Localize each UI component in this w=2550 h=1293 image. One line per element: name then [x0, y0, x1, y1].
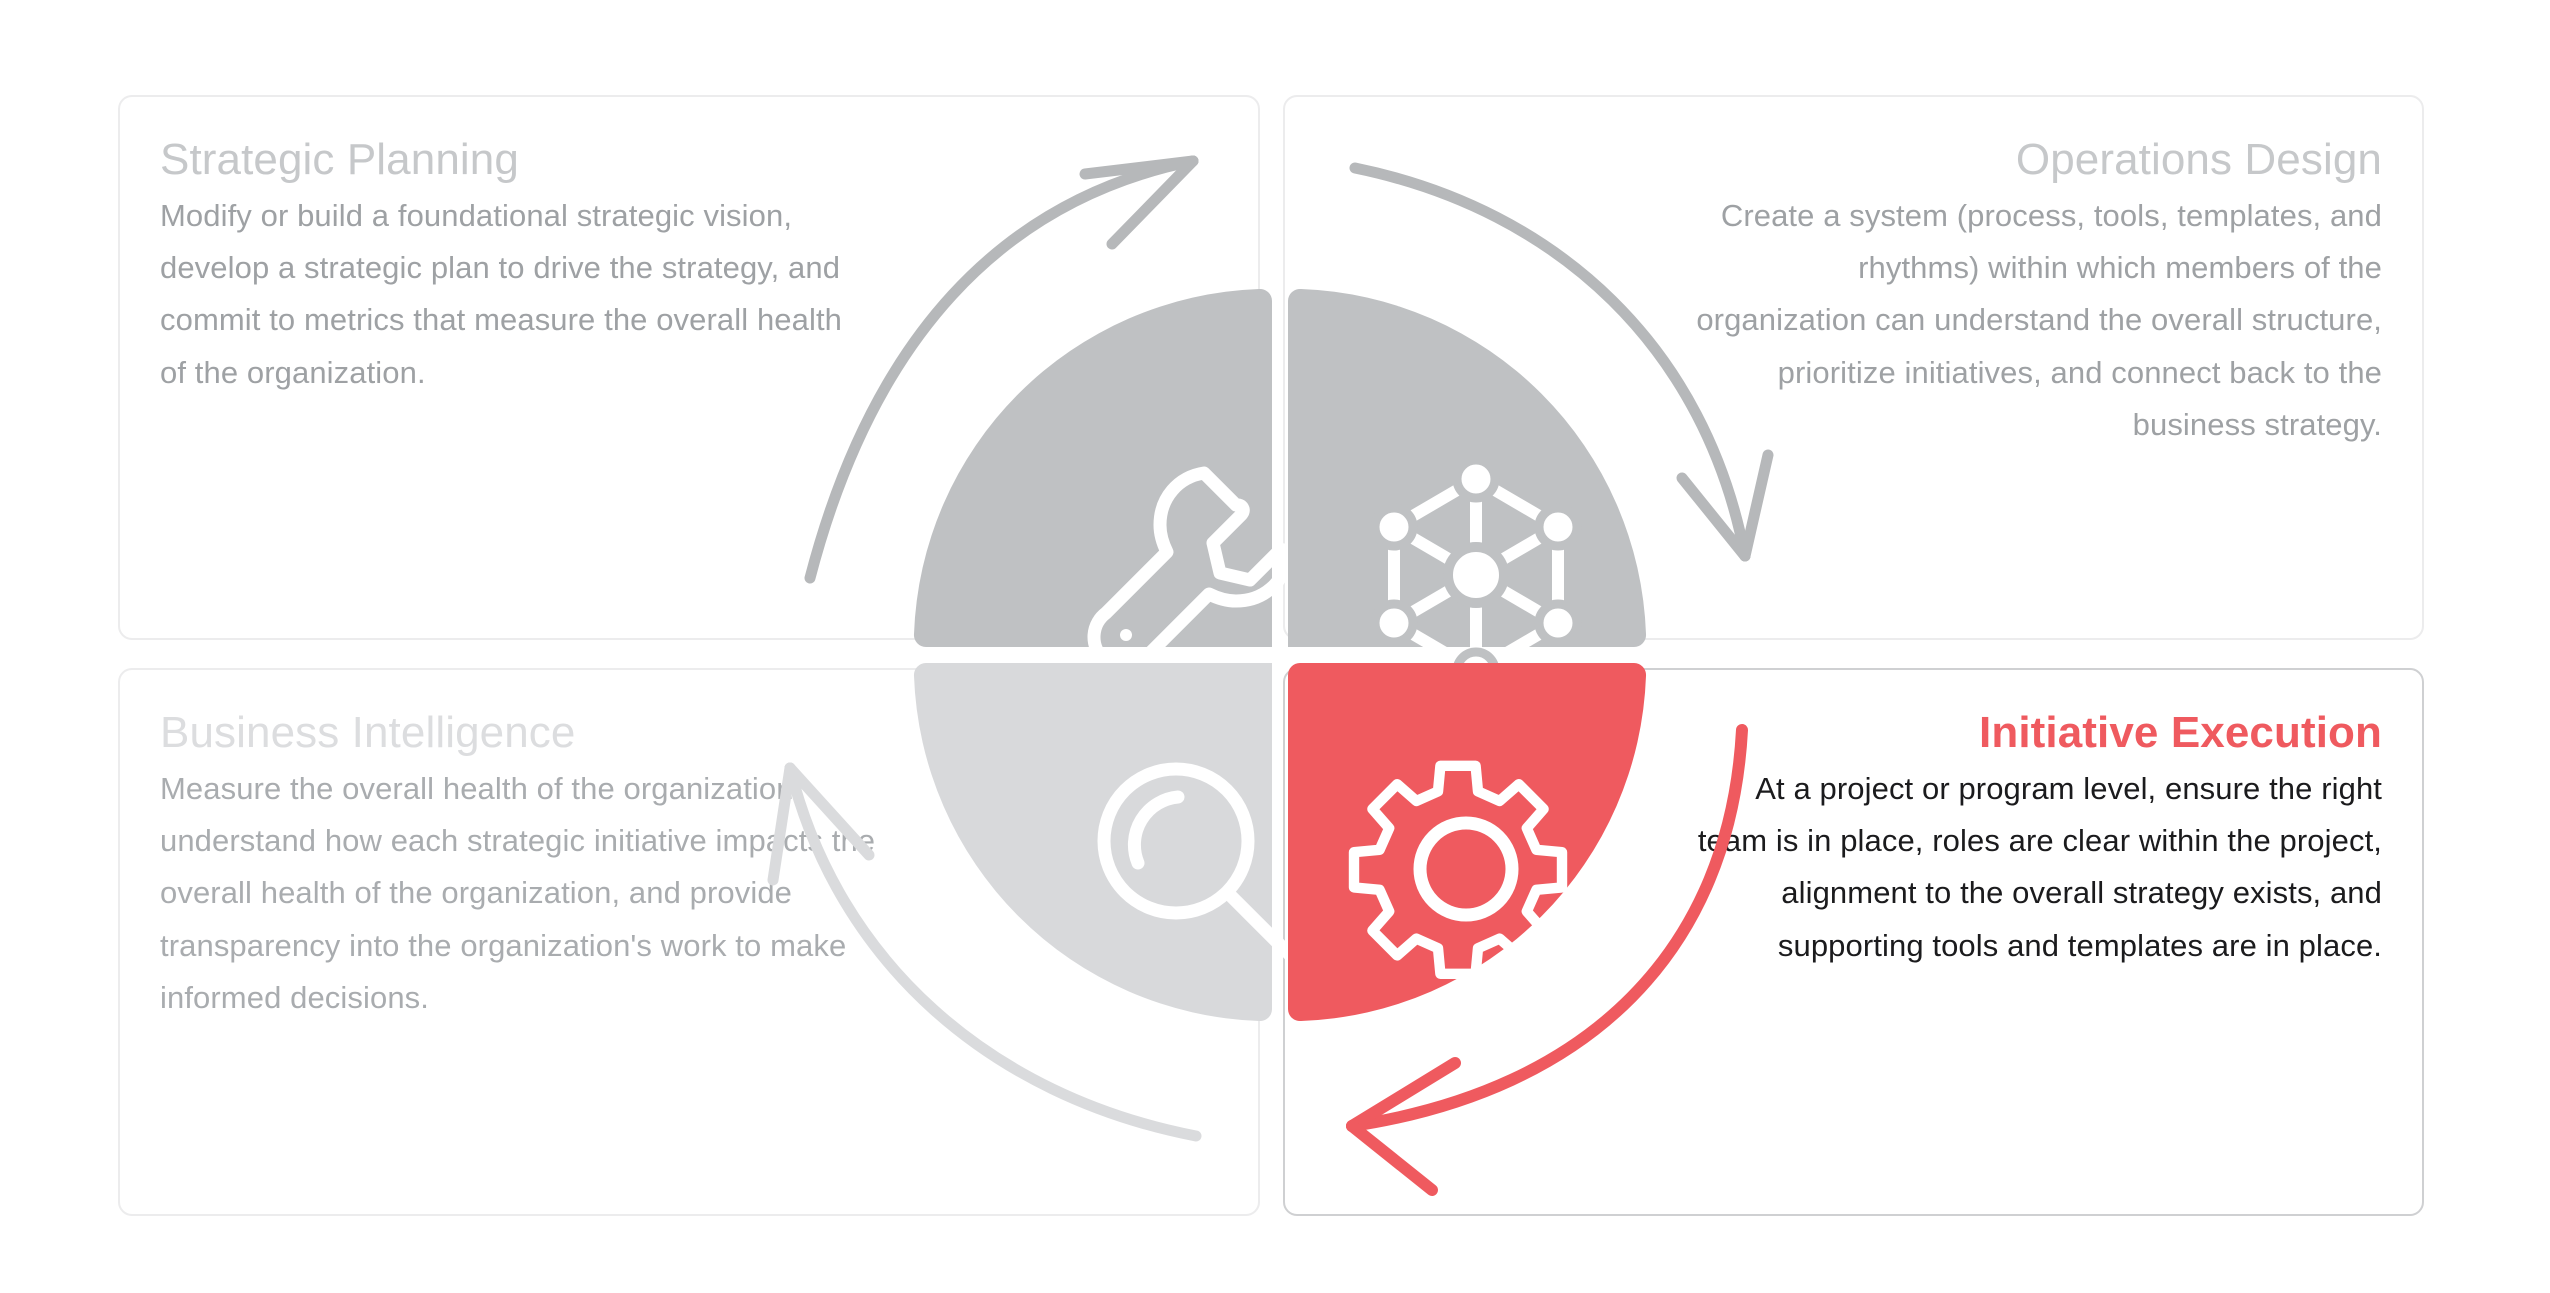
card-initiative-execution-content: Initiative Execution At a project or pro… — [1682, 708, 2382, 972]
card-operations-design[interactable]: Operations Design Create a system (proce… — [1283, 95, 2424, 640]
diagram-canvas: Strategic Planning Modify or build a fou… — [0, 0, 2550, 1293]
card-strategic-planning[interactable]: Strategic Planning Modify or build a fou… — [118, 95, 1260, 640]
card-strategic-planning-title: Strategic Planning — [160, 135, 860, 184]
card-operations-design-title: Operations Design — [1682, 135, 2382, 184]
card-strategic-planning-content: Strategic Planning Modify or build a fou… — [160, 135, 860, 399]
card-business-intelligence-content: Business Intelligence Measure the overal… — [160, 708, 890, 1024]
card-operations-design-content: Operations Design Create a system (proce… — [1682, 135, 2382, 451]
card-initiative-execution-body: At a project or program level, ensure th… — [1682, 763, 2382, 971]
card-strategic-planning-body: Modify or build a foundational strategic… — [160, 190, 860, 398]
card-operations-design-body: Create a system (process, tools, templat… — [1682, 190, 2382, 450]
card-business-intelligence-body: Measure the overall health of the organi… — [160, 763, 890, 1023]
card-business-intelligence[interactable]: Business Intelligence Measure the overal… — [118, 668, 1260, 1216]
card-initiative-execution-title: Initiative Execution — [1682, 708, 2382, 757]
card-business-intelligence-title: Business Intelligence — [160, 708, 890, 757]
card-initiative-execution[interactable]: Initiative Execution At a project or pro… — [1283, 668, 2424, 1216]
